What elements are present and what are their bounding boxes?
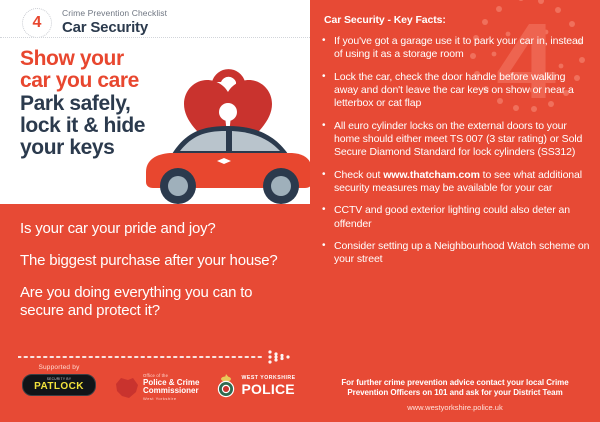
hero-section: Show your car you care Park safely, lock… (0, 38, 310, 204)
right-footer: For further crime prevention advice cont… (320, 378, 590, 412)
logo-west-yorkshire-police: WEST YORKSHIRE POLICE (215, 373, 295, 399)
fact-item: Consider setting up a Neighbourhood Watc… (320, 240, 590, 267)
facts-list: If you've got a garage use it to park yo… (320, 35, 590, 267)
logo-row: Supported by SECURITY BY PATLOCK Office … (0, 364, 310, 420)
patlock-wordmark: PATLOCK (34, 382, 84, 392)
header-text: Crime Prevention Checklist Car Security (62, 6, 167, 35)
question-1: Is your car your pride and joy? (20, 220, 290, 238)
pcc-text: Office of the Police & Crime Commissione… (143, 374, 199, 401)
questions-section: Is your car your pride and joy? The bigg… (0, 204, 310, 422)
hero-line-3: Park safely, (20, 93, 310, 115)
question-2: The biggest purchase after your house? (20, 252, 290, 270)
facts-title: Car Security - Key Facts: (324, 14, 590, 26)
checklist-number-badge: 4 (22, 8, 52, 38)
header: 4 Crime Prevention Checklist Car Securit… (0, 0, 310, 38)
fact-item: CCTV and good exterior lighting could al… (320, 204, 590, 231)
police-website-url[interactable]: www.westyorkshire.police.uk (320, 403, 590, 412)
page-title: Car Security (62, 20, 167, 35)
police-line-2: POLICE (241, 382, 295, 396)
hero-line-1: Show your (20, 48, 310, 70)
police-wordmark: WEST YORKSHIRE POLICE (241, 376, 295, 395)
logo-police-crime-commissioner: Office of the Police & Crime Commissione… (114, 374, 199, 401)
arrowhead-icon (268, 350, 289, 363)
question-3: Are you doing everything you can to secu… (20, 284, 290, 320)
logo-patlock: Supported by SECURITY BY PATLOCK (22, 364, 96, 396)
police-crest-icon (215, 373, 237, 399)
contact-text: For further crime prevention advice cont… (320, 378, 590, 399)
poster: 4 Crime Prevention Checklist Car Securit… (0, 0, 600, 422)
pcc-line-3: Commissioner (143, 387, 199, 396)
hero-line-2: car you care (20, 70, 310, 92)
thatcham-link[interactable]: www.thatcham.com (383, 169, 480, 181)
dotted-arrow-divider (18, 350, 300, 364)
supported-by-label: Supported by (38, 364, 79, 371)
patlock-badge: SECURITY BY PATLOCK (22, 374, 96, 396)
hero-line-4: lock it & hide (20, 115, 310, 137)
hero-line-5: your keys (20, 137, 310, 159)
fact-item: Check out www.thatcham.com to see what a… (320, 169, 590, 196)
left-panel: 4 Crime Prevention Checklist Car Securit… (0, 0, 310, 422)
fact-item: Lock the car, check the door handle befo… (320, 71, 590, 111)
fact-item: All euro cylinder locks on the external … (320, 120, 590, 160)
checklist-number: 4 (33, 14, 42, 32)
right-panel: 4 Car Security - Key Facts: If you've go… (310, 0, 600, 422)
fact-pre: Check out (334, 169, 383, 181)
fact-item: If you've got a garage use it to park yo… (320, 35, 590, 62)
west-yorkshire-map-icon (114, 376, 140, 400)
header-kicker: Crime Prevention Checklist (62, 9, 167, 18)
pcc-line-4: West Yorkshire (143, 397, 199, 401)
